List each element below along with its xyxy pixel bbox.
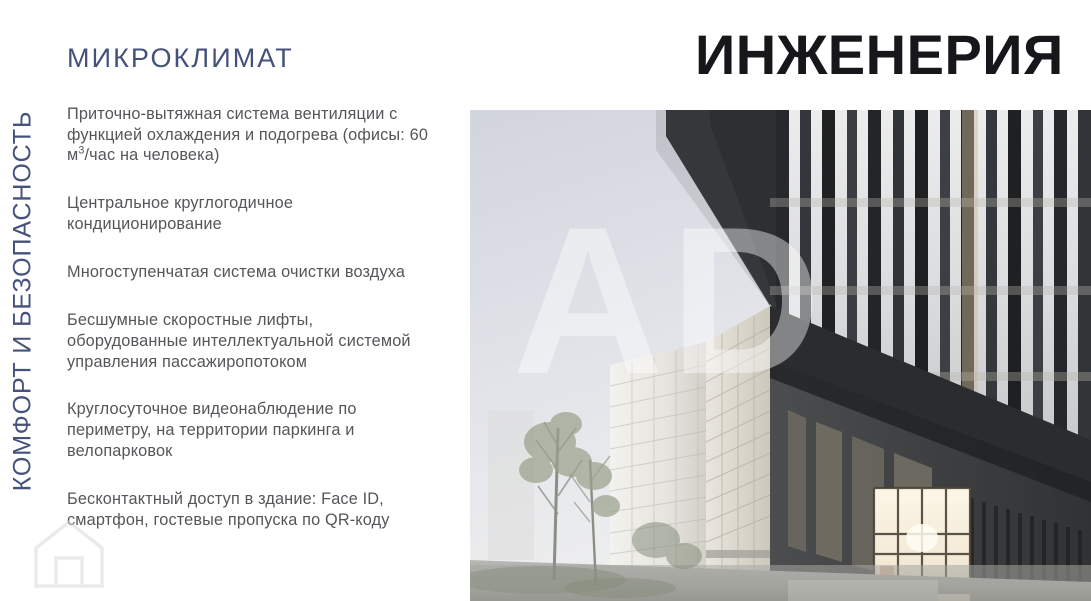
page-title: ИНЖЕНЕРИЯ (695, 27, 1064, 83)
feature-text-after: /час на человека) (84, 146, 219, 164)
feature-item-contactless-access: Бесконтактный доступ в здание: Face ID, … (67, 489, 437, 531)
feature-list: Приточно-вытяжная система вентиляции с ф… (67, 104, 437, 531)
content-column: МИКРОКЛИМАТ Приточно-вытяжная система ве… (67, 44, 437, 531)
feature-item-video-surveillance: Круглосуточное видеонаблюдение по периме… (67, 399, 437, 462)
feature-item-air-purification: Многоступенчатая система очистки воздуха (67, 262, 437, 283)
architectural-render-photo (470, 110, 1091, 601)
section-heading: МИКРОКЛИМАТ (67, 44, 437, 74)
feature-item-ventilation: Приточно-вытяжная система вентиляции с ф… (67, 104, 437, 167)
feature-item-elevators: Бесшумные скоростные лифты, оборудованны… (67, 310, 437, 373)
slide-root: КОМФОРТ И БЕЗОПАСНОСТЬ МИКРОКЛИМАТ Прито… (0, 0, 1091, 601)
vertical-section-label: КОМФОРТ И БЕЗОПАСНОСТЬ (0, 0, 46, 601)
feature-item-air-conditioning: Центральное круглогодичное кондициониров… (67, 193, 437, 235)
vertical-section-label-text: КОМФОРТ И БЕЗОПАСНОСТЬ (9, 110, 38, 491)
render-illustration (470, 110, 1091, 601)
